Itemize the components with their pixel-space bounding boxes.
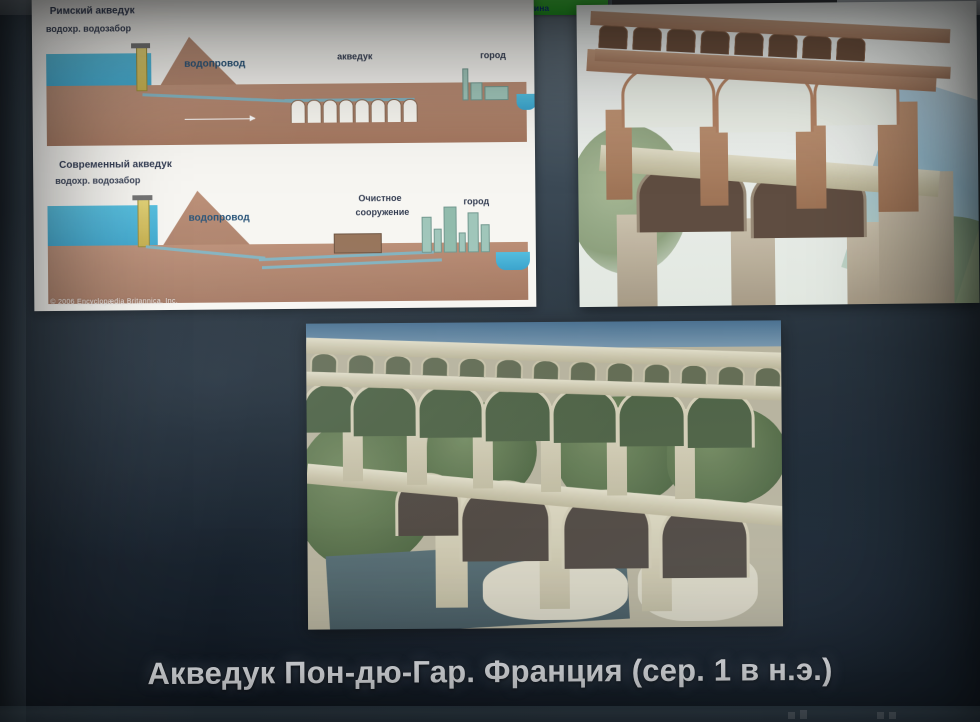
photo-structure [306, 320, 783, 629]
slide-caption: Акведук Пон-дю-Гар. Франция (сер. 1 в н.… [0, 651, 980, 693]
taskbar-icon-3[interactable] [877, 712, 884, 719]
taskbar-icon-1[interactable] [788, 712, 795, 719]
diagram-modern-outflow [496, 252, 530, 270]
diagram-roman-title: Римский акведук [50, 5, 135, 17]
diagram-modern-title: Современный акведук [59, 159, 172, 171]
diagram-modern-city [421, 206, 489, 253]
diagram-treatment-plant [334, 233, 382, 253]
diagram-modern-treatment-label-1: Очистное [358, 193, 401, 203]
diagram-roman-aqueduct-label: акведук [337, 51, 372, 61]
screen-photo: Вы просматриваете экран Наталия Шадрина … [0, 0, 980, 722]
monitor-left-bezel [0, 0, 26, 722]
diagram-modern-city-label: город [463, 196, 489, 206]
diagram-roman-arches [291, 99, 419, 123]
diagram-roman-ground [46, 82, 527, 146]
diagram-roman-city-label: город [480, 50, 506, 60]
diagram-roman-intake-tower [136, 47, 147, 91]
pont-du-gard-photograph [306, 320, 783, 629]
diagram-modern-section: Современный акведук водохр. водозабор во… [33, 154, 536, 308]
diagram-roman-outflow [516, 94, 536, 110]
taskbar-icon-4[interactable] [889, 712, 896, 719]
diagram-modern-intake-tower [137, 199, 149, 247]
diagram-copyright: © 2006 Encyclopædia Britannica, Inc. [50, 298, 178, 306]
diagram-modern-pipeline-label: водопровод [189, 212, 250, 224]
diagram-roman-intake-cap [131, 43, 150, 48]
diagram-roman-city [462, 68, 508, 100]
diagram-modern-intake-cap [132, 195, 152, 200]
aqueduct-illustration [576, 1, 979, 307]
diagram-modern-treatment-label-2: сооружение [355, 207, 409, 217]
taskbar[interactable] [0, 706, 980, 722]
diagram-modern-intake-label: водохр. водозабор [55, 175, 140, 186]
diagram-roman-section: Римский акведук водохр. водозабор водопр… [32, 0, 535, 152]
diagram-roman-pipeline-label: водопровод [184, 58, 245, 70]
aqueduct-comparison-diagram: Римский акведук водохр. водозабор водопр… [32, 0, 537, 311]
diagram-roman-intake-label: водохр. водозабор [46, 23, 131, 34]
taskbar-icon-2[interactable] [800, 710, 807, 719]
photo-arch-mid-1 [350, 381, 418, 436]
